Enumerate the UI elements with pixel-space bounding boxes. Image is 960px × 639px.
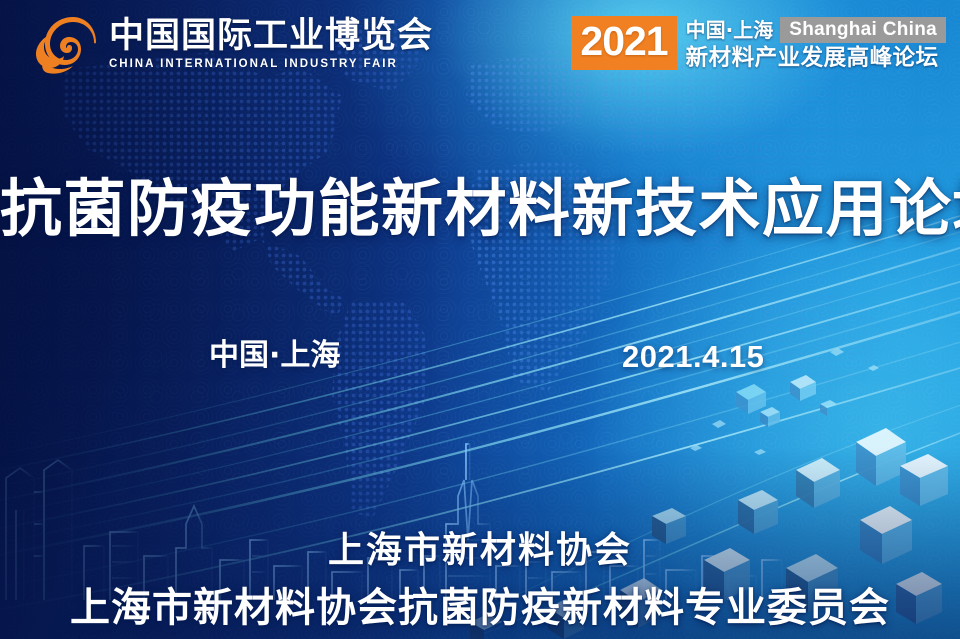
ciif-butterfly-swirl-icon: [33, 14, 101, 76]
forum-lockup: 2021 中国·上海 Shanghai China 新材料产业发展高峰论坛: [571, 16, 946, 70]
event-location: 中国·上海: [209, 338, 340, 374]
event-date: 2021.4.15: [622, 338, 764, 375]
organizer-line-1: 上海市新材料协会: [0, 533, 960, 569]
forum-location-row: 中国·上海 Shanghai China: [686, 17, 946, 43]
ciif-chinese-name: 中国国际工业博览会: [109, 19, 433, 54]
forum-name-cn: 新材料产业发展高峰论坛: [686, 47, 946, 70]
forum-location-cn: 中国·上海: [686, 20, 774, 40]
organizer-block: 上海市新材料协会 上海市新材料协会抗菌防疫新材料专业委员会: [0, 533, 960, 628]
forum-lockup-text: 中国·上海 Shanghai China 新材料产业发展高峰论坛: [686, 16, 946, 70]
forum-location-en-badge: Shanghai China: [780, 17, 946, 43]
forum-banner: 中国国际工业博览会 CHINA INTERNATIONAL INDUSTRY F…: [0, 0, 960, 639]
ciif-logo: 中国国际工业博览会 CHINA INTERNATIONAL INDUSTRY F…: [33, 14, 433, 76]
year-badge: 2021: [571, 16, 676, 70]
ciif-english-name: CHINA INTERNATIONAL INDUSTRY FAIR: [109, 59, 433, 71]
ciif-wordmark: 中国国际工业博览会 CHINA INTERNATIONAL INDUSTRY F…: [109, 19, 433, 71]
page-title: 抗菌防疫功能新材料新技术应用论坛: [0, 178, 960, 240]
event-meta-row: 中国·上海 2021.4.15: [0, 338, 960, 378]
organizer-line-2: 上海市新材料协会抗菌防疫新材料专业委员会: [0, 588, 960, 628]
